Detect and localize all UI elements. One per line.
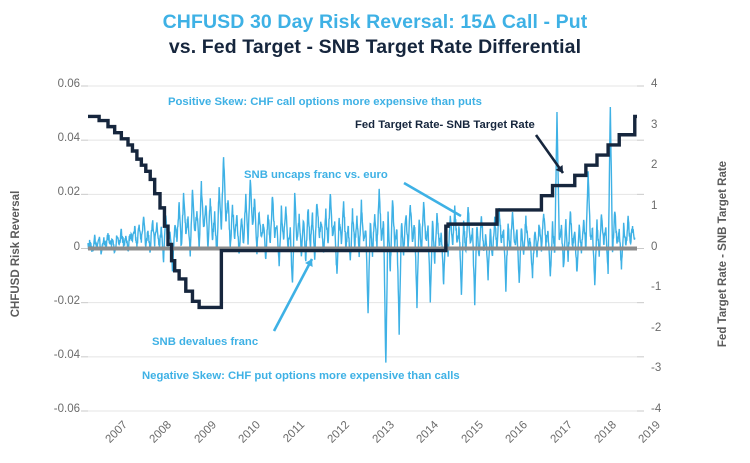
right-axis-tick-label: -1 <box>651 281 681 293</box>
rate-differential-step-line <box>88 116 637 307</box>
left-axis-tick-label: -0.06 <box>26 403 80 415</box>
annotation-negative-skew: Negative Skew: CHF put options more expe… <box>142 370 460 382</box>
leader-fed-snb-label <box>536 135 563 173</box>
annotation-positive-skew: Positive Skew: CHF call options more exp… <box>168 96 482 108</box>
right-axis-tick-label: 0 <box>651 241 681 253</box>
right-axis-title: Fed Target Rate - SNB Target Rate <box>717 154 729 354</box>
left-axis-title: CHFUSD Risk Reversal <box>10 174 22 334</box>
plot-area <box>0 0 750 463</box>
left-axis-tick-label: 0.02 <box>26 186 80 198</box>
chart-title-line-1: CHFUSD 30 Day Risk Reversal: 15Δ Call - … <box>0 10 750 35</box>
right-axis-tick-label: 1 <box>651 200 681 212</box>
left-axis-tick-label: 0.04 <box>26 132 80 144</box>
annotation-snb-devalues: SNB devalues franc <box>152 336 258 348</box>
right-axis-tick-label: -2 <box>651 322 681 334</box>
chart-container: CHFUSD 30 Day Risk Reversal: 15Δ Call - … <box>0 0 750 463</box>
chart-title: CHFUSD 30 Day Risk Reversal: 15Δ Call - … <box>0 10 750 60</box>
series-chfusd-risk-reversal <box>88 107 635 363</box>
right-axis-tick-label: 2 <box>651 159 681 171</box>
right-axis-tick-label: -4 <box>651 403 681 415</box>
right-axis-tick-label: -3 <box>651 362 681 374</box>
left-axis-tick-label: -0.02 <box>26 295 80 307</box>
leader-snb-uncaps <box>404 183 461 216</box>
right-axis-tick-label: 4 <box>651 78 681 90</box>
left-axis-tick-label: -0.04 <box>26 349 80 361</box>
left-axis-tick-label: 0 <box>26 241 80 253</box>
risk-reversal-line <box>88 107 635 363</box>
annotation-fed-snb-label: Fed Target Rate- SNB Target Rate <box>355 119 535 131</box>
annotation-snb-uncaps: SNB uncaps franc vs. euro <box>244 169 388 181</box>
right-axis-tick-label: 3 <box>651 119 681 131</box>
series-fed-snb-rate-differential <box>88 116 637 307</box>
chart-title-line-2: vs. Fed Target - SNB Target Rate Differe… <box>0 35 750 60</box>
left-axis-tick-label: 0.06 <box>26 78 80 90</box>
